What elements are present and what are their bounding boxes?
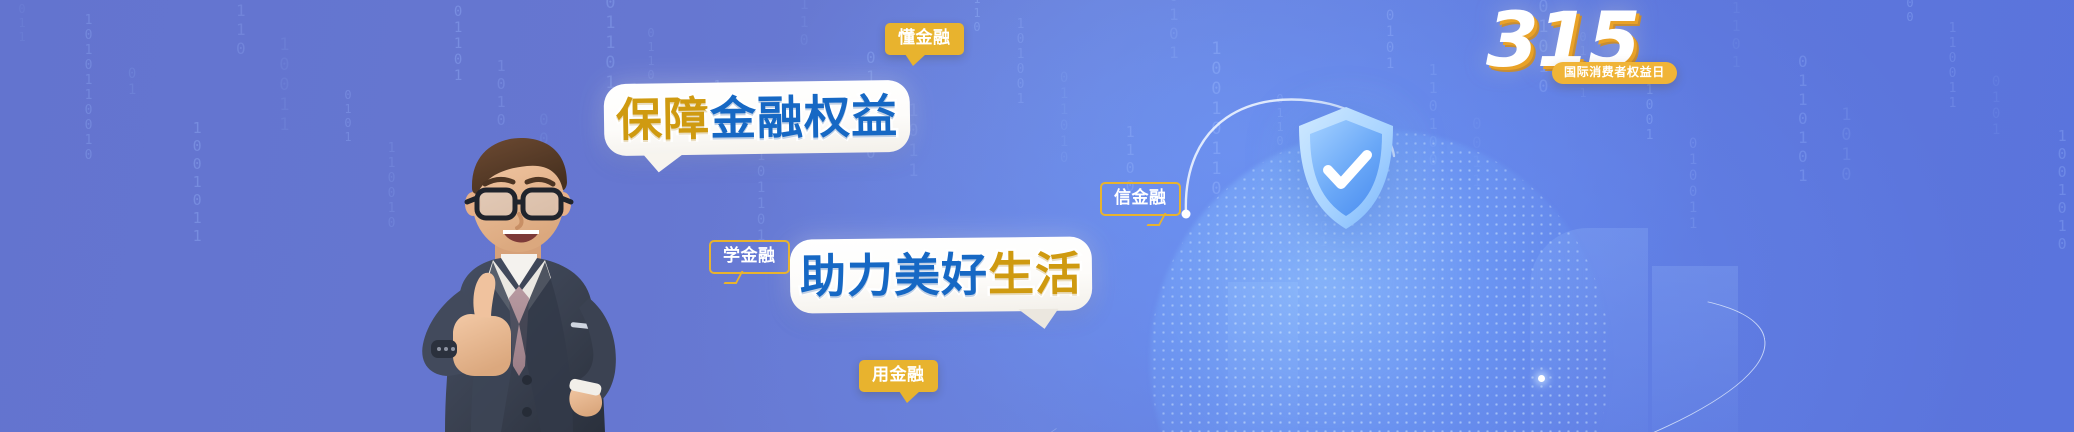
- headline-line1-blue: 金融权益: [710, 89, 899, 146]
- binary-code-column: 1001: [1642, 83, 1656, 143]
- promo-banner: 0100111010110010011001011011010011010111…: [0, 0, 2074, 432]
- keyword-tag-yong-jinrong[interactable]: 用金融: [859, 360, 938, 392]
- binary-code-column: 010011: [1685, 136, 1700, 232]
- logo-315: 315 国际消费者权益日: [1486, 2, 1706, 94]
- logo-315-number: 315: [1486, 2, 1639, 78]
- binary-code-column: 01: [124, 66, 139, 98]
- keyword-tag-dong-jinrong[interactable]: 懂金融: [885, 23, 964, 55]
- binary-code-column: 010011: [15, 0, 28, 44]
- headline-line-2: 助力美好生活: [790, 250, 1092, 299]
- building-silhouette: [1530, 228, 1648, 432]
- keyword-tag-xue-jinrong[interactable]: 学金融: [709, 240, 790, 274]
- logo-315-caption: 国际消费者权益日: [1552, 62, 1677, 84]
- headline-line-1: 保障金融权益: [604, 93, 911, 143]
- headline-line2-blue: 助力美好: [800, 248, 989, 304]
- binary-code-column: 1010: [1837, 105, 1855, 185]
- binary-code-column: 0011: [535, 110, 552, 186]
- headline-bubble-secondary: 助力美好生活: [790, 236, 1093, 313]
- binary-code-column: 101001: [1013, 17, 1027, 107]
- binary-code-column: 1010: [493, 57, 509, 129]
- shield-check-icon: [1292, 104, 1400, 232]
- headline-line1-gold: 保障: [616, 92, 711, 147]
- binary-code-column: 01101: [450, 4, 465, 84]
- binary-code-column: 1010110010: [81, 13, 95, 163]
- binary-code-column: 0011: [1468, 114, 1485, 190]
- binary-code-background: 0100111010110010011001011011010011010111…: [0, 0, 2074, 432]
- binary-code-column: 00110: [970, 0, 983, 34]
- binary-code-column: 0101: [1988, 74, 2003, 138]
- binary-code-column: 101101: [601, 0, 619, 93]
- binary-code-column: 011010: [1056, 70, 1071, 166]
- headline-bubble-primary: 保障金融权益: [604, 80, 911, 156]
- binary-code-column: 110: [796, 0, 812, 49]
- binary-code-column: 110010: [384, 141, 398, 231]
- binary-code-column: 0100: [1903, 0, 1916, 24]
- binary-code-column: 110011: [1945, 21, 1959, 111]
- binary-code-column: 0101: [1165, 0, 1182, 62]
- binary-code-column: 101010: [1534, 0, 1552, 97]
- binary-code-column: 1101: [1728, 0, 1744, 71]
- building-silhouette: [1652, 266, 1738, 432]
- binary-code-column: 0110: [232, 0, 249, 58]
- building-silhouette: [1228, 282, 1298, 432]
- binary-code-column: 0110: [1273, 92, 1286, 148]
- binary-code-column: 0101: [341, 88, 354, 144]
- binary-code-column: 1001010: [2054, 127, 2070, 253]
- binary-code-column: 01101: [1576, 30, 1589, 100]
- binary-code-column: 110100: [1425, 61, 1441, 169]
- headline-line2-gold: 生活: [988, 247, 1083, 302]
- binary-code-column: 10010110: [1207, 39, 1225, 199]
- keyword-tag-xin-jinrong[interactable]: 信金融: [1100, 182, 1181, 216]
- binary-code-column: 1001011: [189, 119, 205, 245]
- binary-code-column: 0110101: [1794, 52, 1811, 185]
- binary-code-column: 0101: [1382, 8, 1397, 72]
- businessman-thumbs-up-icon: [375, 128, 675, 432]
- binary-code-column: 10011: [275, 35, 293, 135]
